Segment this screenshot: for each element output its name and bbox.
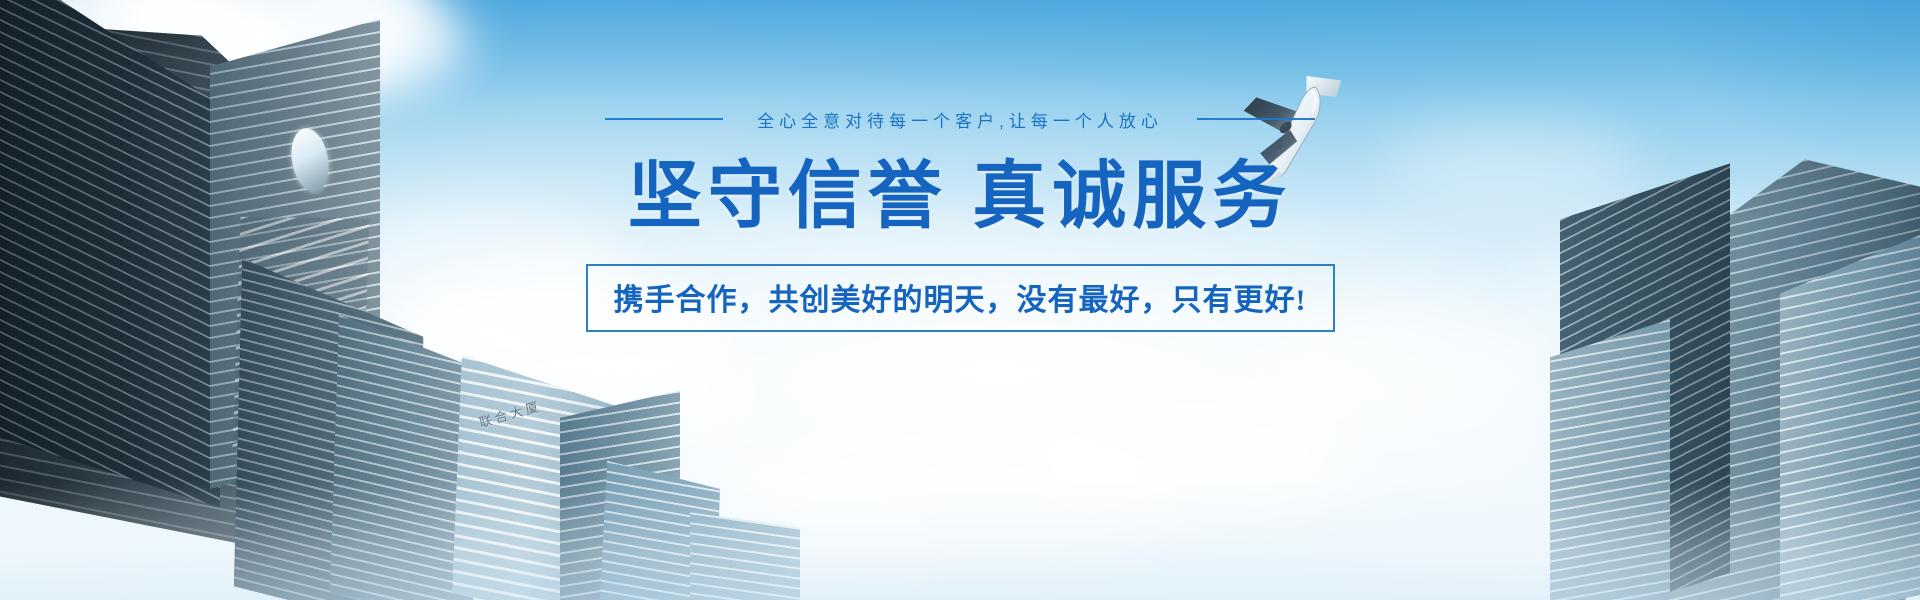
building-right-tower-far [1780, 235, 1920, 600]
building-right-tower-small [1550, 319, 1670, 600]
skyline: 联合大厦 [0, 0, 1920, 600]
hero-banner: 联合大厦 [0, 0, 1920, 600]
building-block-b [690, 512, 800, 600]
airplane-icon [1218, 65, 1361, 194]
